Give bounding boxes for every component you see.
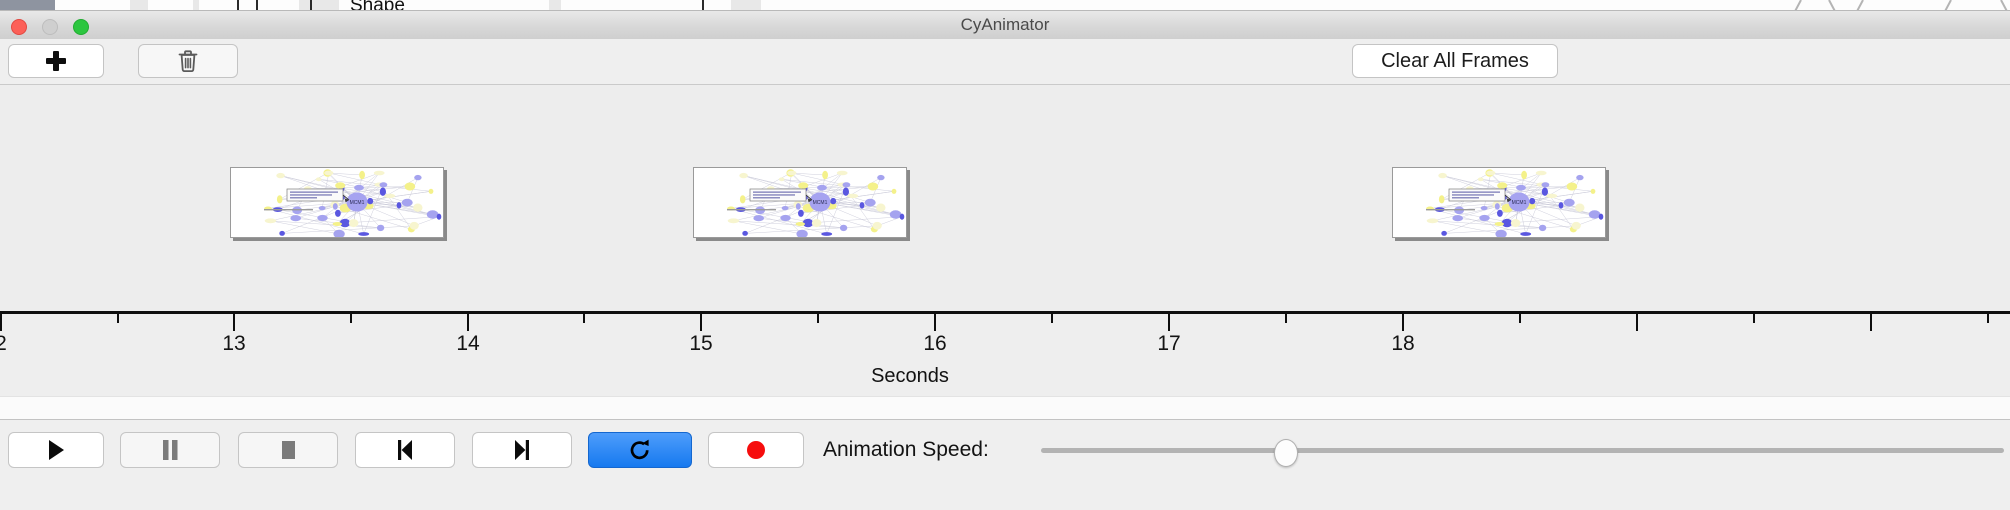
timeline-tick	[1636, 314, 1638, 331]
svg-text:MCM1: MCM1	[350, 200, 365, 206]
timeline-tick-label: 17	[1157, 332, 1180, 356]
previous-frame-button[interactable]	[355, 432, 455, 468]
svg-text:MCM1: MCM1	[813, 200, 828, 206]
timeline-tick-label: 15	[689, 332, 712, 356]
play-button[interactable]	[8, 432, 104, 468]
timeline-tick	[1168, 314, 1170, 331]
pause-button[interactable]	[120, 432, 220, 468]
timeline-tick-label: 14	[456, 332, 479, 356]
skip-forward-icon	[511, 439, 533, 461]
background-desktop-strip: Shape	[0, 0, 2010, 11]
timeline-tick	[1402, 314, 1404, 331]
delete-frame-button[interactable]	[138, 44, 238, 78]
timeline-tick	[1753, 314, 1755, 323]
timeline-tick-label: 18	[1391, 332, 1414, 356]
timeline-tick	[583, 314, 585, 323]
play-icon	[46, 439, 66, 461]
cyanimator-window: Shape CyAnimator Clear All Frames	[0, 0, 2010, 510]
stop-button[interactable]	[238, 432, 338, 468]
timeline-tick	[700, 314, 702, 331]
svg-text:MCM1: MCM1	[1512, 200, 1527, 206]
timeline-tick	[1870, 314, 1872, 331]
frame-thumbnail-2[interactable]: MCM1	[693, 167, 907, 238]
animation-speed-slider-thumb[interactable]	[1274, 439, 1298, 467]
timeline-tick-label: 16	[923, 332, 946, 356]
timeline-tick	[233, 314, 235, 331]
plus-icon	[46, 51, 66, 71]
playback-control-bar: Animation Speed:	[0, 419, 2010, 510]
timeline-tick	[1285, 314, 1287, 323]
title-bar: CyAnimator	[0, 11, 2010, 40]
timeline-tick	[817, 314, 819, 323]
timeline-tick	[934, 314, 936, 331]
timeline-tick	[350, 314, 352, 323]
add-frame-button[interactable]	[8, 44, 104, 78]
timeline-scrollbar-track[interactable]	[0, 396, 2010, 419]
timeline-axis-title-text: Seconds	[871, 365, 949, 387]
timeline-axis-line	[0, 311, 2010, 314]
pause-icon	[160, 439, 180, 461]
timeline-tick-label: 13	[222, 332, 245, 356]
record-button[interactable]	[708, 432, 804, 468]
timeline-frames-area[interactable]: MCM1MCM1MCM1	[0, 85, 2010, 312]
frame-thumbnail-3[interactable]: MCM1	[1392, 167, 1606, 238]
timeline-tick	[467, 314, 469, 331]
clear-all-frames-button[interactable]: Clear All Frames	[1352, 44, 1558, 78]
timeline-tick	[117, 314, 119, 323]
loop-icon	[628, 438, 652, 462]
stop-icon	[278, 439, 298, 461]
skip-back-icon	[394, 439, 416, 461]
animation-speed-slider-track[interactable]	[1041, 448, 2004, 453]
timeline-tick	[0, 314, 2, 331]
next-frame-button[interactable]	[472, 432, 572, 468]
window-title: CyAnimator	[0, 11, 2010, 39]
record-icon	[745, 439, 767, 461]
timeline-axis-title: Seconds	[0, 365, 2010, 388]
loop-button[interactable]	[588, 432, 692, 468]
timeline-tick	[1519, 314, 1521, 323]
timeline-tick	[1987, 314, 1989, 323]
toolbar: Clear All Frames	[0, 39, 2010, 85]
trash-icon	[177, 49, 199, 73]
timeline-tick-label: 2	[0, 332, 7, 356]
frame-thumbnail-1[interactable]: MCM1	[230, 167, 444, 238]
timeline-tick	[1051, 314, 1053, 323]
clear-all-frames-label: Clear All Frames	[1381, 50, 1529, 73]
animation-speed-label: Animation Speed:	[823, 432, 989, 468]
